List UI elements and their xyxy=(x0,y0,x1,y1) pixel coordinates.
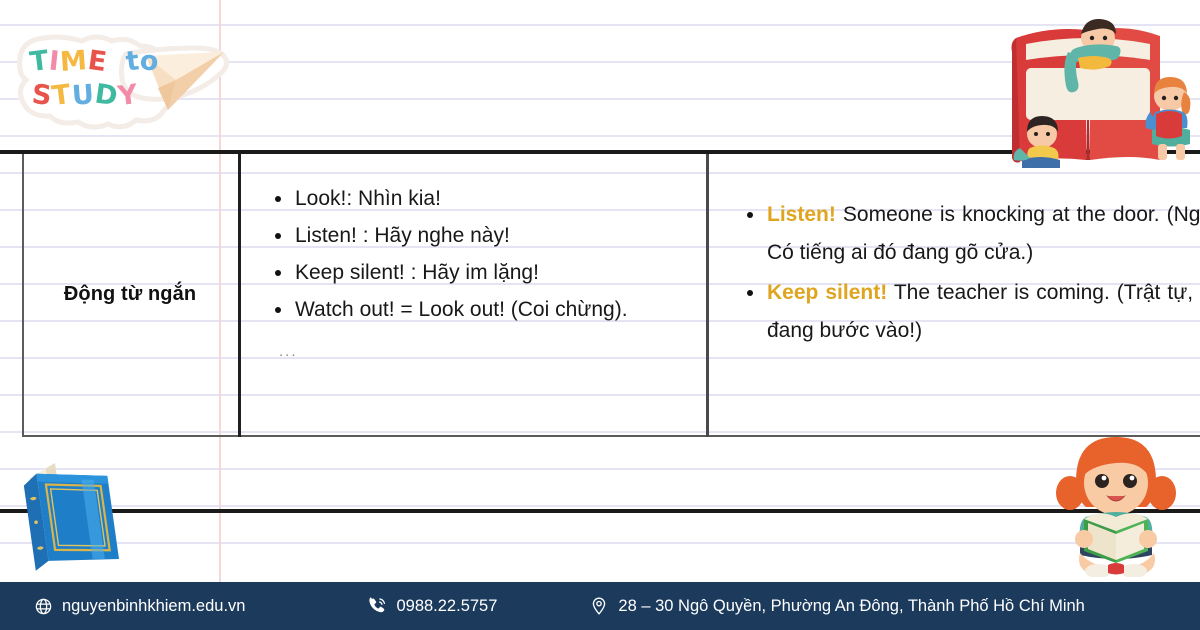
list-item: Look!: Nhìn kia! xyxy=(269,180,696,217)
examples-ellipsis: ... xyxy=(279,342,696,362)
table-cell-sentences: Listen! Someone is knocking at the door.… xyxy=(709,166,1200,436)
page-root: Động từ ngắn Look!: Nhìn kia! Listen! : … xyxy=(0,0,1200,630)
bottom-horizontal-rule xyxy=(0,509,1200,513)
location-pin-icon xyxy=(589,596,609,616)
list-item: Keep silent! The teacher is coming. (Trậ… xyxy=(741,274,1200,350)
footer-website[interactable]: nguyenbinhkhiem.edu.vn xyxy=(34,597,245,616)
list-item: Keep silent! : Hãy im lặng! xyxy=(269,254,696,291)
sentences-list: Listen! Someone is knocking at the door.… xyxy=(741,196,1200,350)
grammar-table: Động từ ngắn Look!: Nhìn kia! Listen! : … xyxy=(22,152,1200,437)
contact-footer-bar: nguyenbinhkhiem.edu.vn 0988.22.5757 28 –… xyxy=(0,582,1200,630)
highlight-term: Keep silent! xyxy=(767,281,887,304)
sticker-line-2: STUDY xyxy=(32,80,139,111)
open-red-book-with-children-illustration xyxy=(990,8,1200,173)
time-to-study-sticker: TIME to STUDY xyxy=(8,18,248,136)
blue-hardcover-book-illustration xyxy=(8,447,138,582)
footer-phone[interactable]: 0988.22.5757 xyxy=(367,596,497,616)
list-item: Listen! : Hãy nghe này! xyxy=(269,217,696,254)
footer-phone-text: 0988.22.5757 xyxy=(396,597,497,616)
highlight-term: Listen! xyxy=(767,203,836,226)
examples-list: Look!: Nhìn kia! Listen! : Hãy nghe này!… xyxy=(269,180,696,328)
footer-website-text: nguyenbinhkhiem.edu.vn xyxy=(62,597,245,616)
table-cell-row-label: Động từ ngắn xyxy=(22,152,238,437)
table-cell-examples: Look!: Nhìn kia! Listen! : Hãy nghe này!… xyxy=(241,166,706,436)
list-item: Watch out! = Look out! (Coi chừng). xyxy=(269,291,696,328)
sticker-line-1: TIME to xyxy=(30,46,160,77)
row-label-text: Động từ ngắn xyxy=(64,283,196,306)
footer-address[interactable]: 28 – 30 Ngô Quyền, Phường An Đông, Thành… xyxy=(589,596,1084,616)
globe-icon xyxy=(34,597,53,616)
footer-address-text: 28 – 30 Ngô Quyền, Phường An Đông, Thành… xyxy=(618,597,1084,616)
list-item: Listen! Someone is knocking at the door.… xyxy=(741,196,1200,272)
girl-reading-green-book-illustration xyxy=(1036,427,1196,582)
phone-ringing-icon xyxy=(367,596,387,616)
